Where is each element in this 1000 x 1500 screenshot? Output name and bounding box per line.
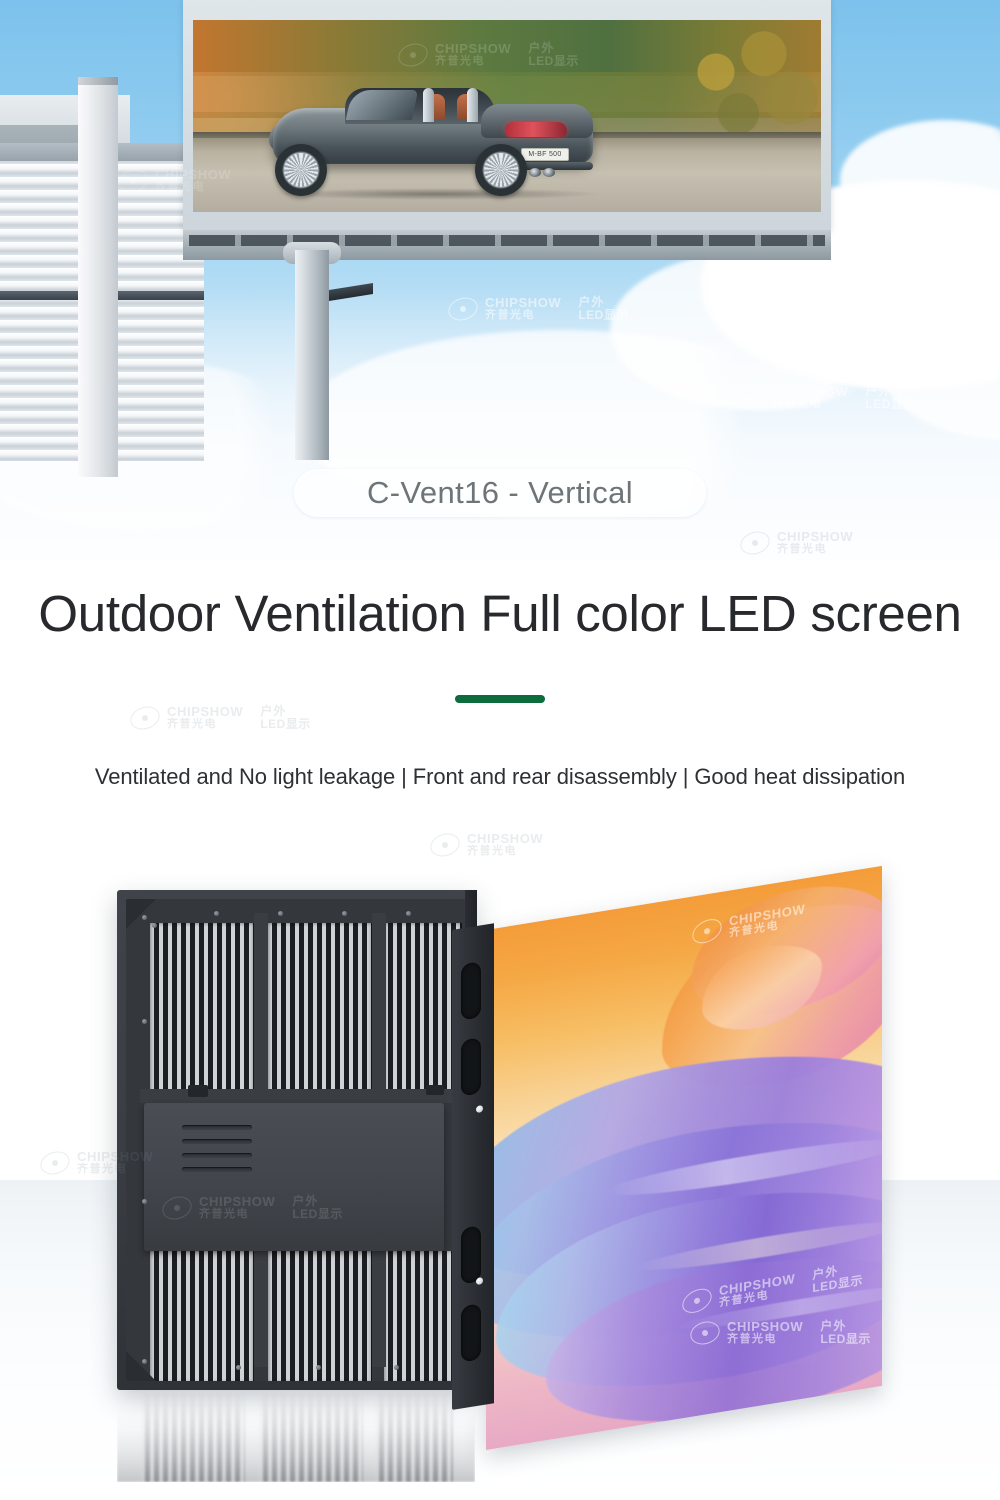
chipshow-logo-icon: [130, 707, 160, 729]
cabinet-spine: [140, 1089, 452, 1103]
car-wheel: [275, 144, 327, 196]
watermark-brand-cn: 齐普光电: [485, 310, 561, 322]
cabinet-side-profile: [452, 923, 494, 1410]
cabinet-screw: [406, 911, 411, 916]
chipshow-logo-icon: [162, 1197, 192, 1219]
control-box-vent: [182, 1125, 252, 1130]
feature-summary: Ventilated and No light leakage | Front …: [0, 762, 1000, 792]
product-page: M-BF 500 CHIPSHOW 齐普光电: [0, 0, 1000, 1500]
led-cabinet-front: CHIPSHOW 齐普光电 CHIPSHOW 齐普光电 户外 LED显示: [452, 930, 882, 1450]
chipshow-logo-icon: [40, 1152, 70, 1174]
cabinet-screw: [342, 911, 347, 916]
roadside-foliage: [671, 20, 821, 150]
ventilation-louvers: [268, 923, 372, 1093]
product-showcase: CHIPSHOW 齐普光电 户外 LED显示: [0, 850, 1000, 1500]
car-exhaust: [543, 168, 555, 177]
control-box-vent: [182, 1167, 252, 1172]
watermark-brand-en: CHIPSHOW: [167, 705, 243, 719]
car-bmw-z4: M-BF 500: [253, 78, 603, 194]
watermark-tag-led: LED显示: [260, 718, 311, 731]
side-cutout: [461, 1225, 481, 1284]
cabinet-corner: [126, 1351, 156, 1381]
control-box: CHIPSHOW 齐普光电 户外 LED显示: [144, 1103, 444, 1251]
car-rollbar: [423, 88, 434, 122]
billboard-screen: M-BF 500 CHIPSHOW 齐普光电: [193, 20, 821, 212]
building-pillar-shading: [78, 77, 118, 477]
chipshow-logo-icon: [448, 298, 478, 320]
product-name-label: C-Vent16 - Vertical: [367, 475, 633, 511]
side-fastener: [476, 1277, 483, 1285]
watermark: CHIPSHOW 齐普光电 户外 LED显示: [162, 1195, 343, 1220]
watermark-brand-cn: 齐普光电: [199, 1209, 275, 1221]
led-cabinet-rear: CHIPSHOW 齐普光电 户外 LED显示: [117, 890, 475, 1390]
ventilation-louvers: [268, 1251, 372, 1381]
car-taillight: [505, 122, 567, 137]
side-fastener: [476, 1105, 483, 1113]
watermark-tag-led: LED显示: [292, 1208, 343, 1221]
car-rollbar: [467, 88, 478, 122]
car-wheel: [475, 144, 527, 196]
rear-cabinet-reflection: [117, 1390, 475, 1482]
cabinet-screw: [142, 1199, 147, 1204]
watermark-tag-cn: 户外: [292, 1195, 343, 1208]
watermark: CHIPSHOW 齐普光电 户外 LED显示: [448, 296, 629, 321]
cabinet-latch: [426, 1085, 444, 1095]
cabinet-screw: [214, 911, 219, 916]
billboard-brace: [329, 283, 373, 301]
cabinet-screw: [316, 1365, 321, 1370]
side-cutout: [461, 1037, 481, 1096]
ventilation-louvers: [150, 923, 254, 1093]
watermark-brand-en: CHIPSHOW: [467, 832, 543, 846]
billboard-pole: [295, 250, 329, 460]
cabinet-screw: [278, 911, 283, 916]
side-cutout: [461, 1303, 481, 1362]
watermark-brand-cn: 齐普光电: [167, 719, 243, 731]
billboard-frame: M-BF 500 CHIPSHOW 齐普光电: [183, 0, 831, 230]
watermark: CHIPSHOW 齐普光电 户外 LED显示: [130, 705, 311, 730]
car-windshield: [346, 90, 418, 120]
ventilation-louvers: [384, 1251, 462, 1381]
control-box-vent: [182, 1139, 252, 1144]
watermark-tag-cn: 户外: [260, 705, 311, 718]
cabinet-screw: [236, 1365, 241, 1370]
cabinet-screw: [142, 1019, 147, 1024]
product-name-badge: C-Vent16 - Vertical: [294, 469, 706, 517]
billboard: M-BF 500 CHIPSHOW 齐普光电: [183, 0, 831, 260]
cabinet-screw: [394, 1365, 399, 1370]
ventilation-louvers: [384, 923, 462, 1093]
side-cutout: [461, 961, 481, 1020]
building-facade: [0, 55, 200, 455]
page-title: Outdoor Ventilation Full color LED scree…: [0, 584, 1000, 644]
control-box-vent: [182, 1153, 252, 1158]
watermark-brand-en: CHIPSHOW: [199, 1195, 275, 1209]
watermark-brand-en: CHIPSHOW: [485, 296, 561, 310]
car-license-plate: M-BF 500: [521, 148, 569, 161]
cabinet-corner: [126, 899, 156, 929]
car-shadow: [273, 188, 603, 200]
title-divider: [455, 695, 545, 703]
ventilation-louvers: [150, 1251, 254, 1381]
car-exhaust: [529, 168, 541, 177]
rear-cabinet-body: CHIPSHOW 齐普光电 户外 LED显示: [126, 899, 466, 1381]
led-display-surface: CHIPSHOW 齐普光电 CHIPSHOW 齐普光电 户外 LED显示: [486, 866, 882, 1450]
cabinet-latch: [188, 1085, 208, 1097]
billboard-underframe: [183, 230, 831, 260]
